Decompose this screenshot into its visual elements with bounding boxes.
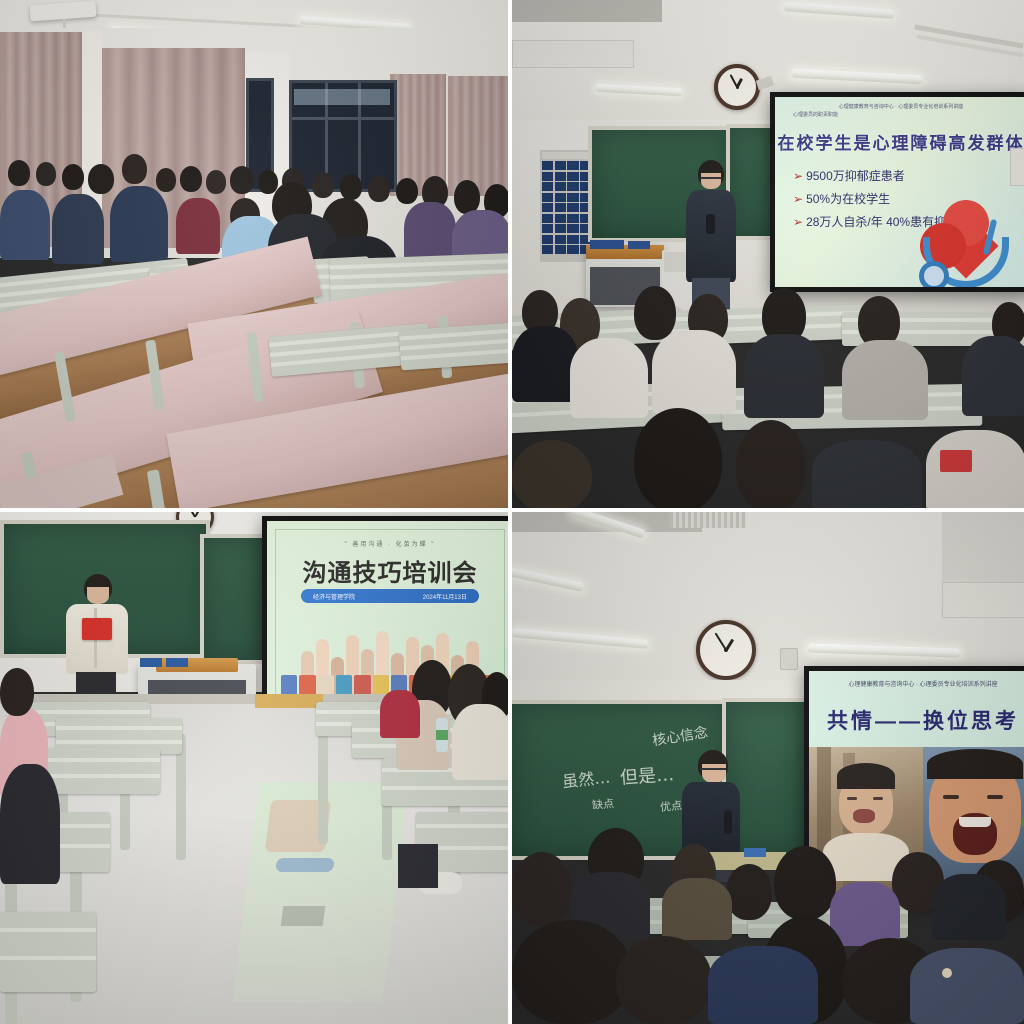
slide-banner-left: 经济与管理学院 [313,592,355,601]
ceiling-fan-icon [512,0,548,40]
slide-title: 沟通技巧培训会 [267,553,508,588]
slide-banner: 经济与管理学院 2024年11月13日 [301,589,479,603]
chalk-text-core-belief: 核心信念 [651,722,709,751]
chalk-text-although: 虽然… [561,764,611,793]
slide-content: 心理健康教育与咨询中心 · 心理委员专业化培训系列讲座 心理委员的职责职能 在校… [775,97,1024,287]
slide-title: 在校学生是心理障碍高发群体 [775,129,1024,154]
slide-header-line1: 心理健康教育与咨询中心 · 心理委员专业化培训系列讲座 [775,103,1024,110]
presenter-person [684,160,738,310]
ceiling-fan-icon-3 [720,0,780,48]
ceiling-fan-icon-2 [762,548,824,600]
photo-collage: 心理健康教育与咨询中心 · 心理委员专业化培训系列讲座 心理委员的职责职能 在校… [0,0,1024,1024]
slide-header: 心理健康教育与咨询中心 · 心理委员专业化培训系列讲座 [809,679,1024,688]
bullet-arrow-icon: ➢ [793,169,803,183]
slide-bullet-1: ➢9500万抑郁症患者 [793,167,970,184]
collage-panel-top-left[interactable] [0,0,508,508]
projection-screen: 心理健康教育与咨询中心 · 心理委员专业化培训系列讲座 心理委员的职责职能 在校… [770,92,1024,292]
chalk-text-however: 但是… [619,760,675,790]
photo-lecture-hall-audience [0,0,508,508]
red-folder [82,618,112,640]
photo-empathy-lecture: 核心信念 虽然… 但是… 缺点 优点 心理健康教育与咨询中心 · 心理委员专业化… [512,512,1024,1024]
heart-stethoscope-graphic-icon [919,209,1023,287]
slide-header-line2: 心理委员的职责职能 [775,111,1024,118]
bullet-arrow-icon-3: ➢ [793,215,803,229]
ceiling-fan-icon-2 [640,0,690,42]
photo-opening-remarks: " 善用沟通 · 化茧为蝶 " 沟通技巧培训会 经济与管理学院 2024年11月… [0,512,508,1024]
collage-panel-bottom-right[interactable]: 核心信念 虽然… 但是… 缺点 优点 心理健康教育与咨询中心 · 心理委员专业化… [512,512,1024,1024]
ceiling-vent-icon [670,512,746,528]
slide-tagline: " 善用沟通 · 化茧为蝶 " [267,539,508,548]
photo-lecture-presentation: 心理健康教育与咨询中心 · 心理委员专业化培训系列讲座 心理委员的职责职能 在校… [512,0,1024,508]
bullet-arrow-icon-2: ➢ [793,192,803,206]
host-person [66,574,128,694]
chalk-text-strength: 优点 [659,797,682,815]
wall-clock [696,620,756,680]
collage-panel-bottom-left[interactable]: " 善用沟通 · 化茧为蝶 " 沟通技巧培训会 经济与管理学院 2024年11月… [0,512,508,1024]
blackboard-right [200,534,266,664]
slide-title: 共情——换位思考 [809,705,1024,735]
collage-panel-top-right[interactable]: 心理健康教育与咨询中心 · 心理委员专业化培训系列讲座 心理委员的职责职能 在校… [512,0,1024,508]
wall-clock [714,64,760,110]
chalk-text-shortcoming: 缺点 [591,795,614,813]
slide-banner-right: 2024年11月13日 [423,592,467,601]
slide-bullet-2: ➢50%为在校学生 [793,190,970,207]
